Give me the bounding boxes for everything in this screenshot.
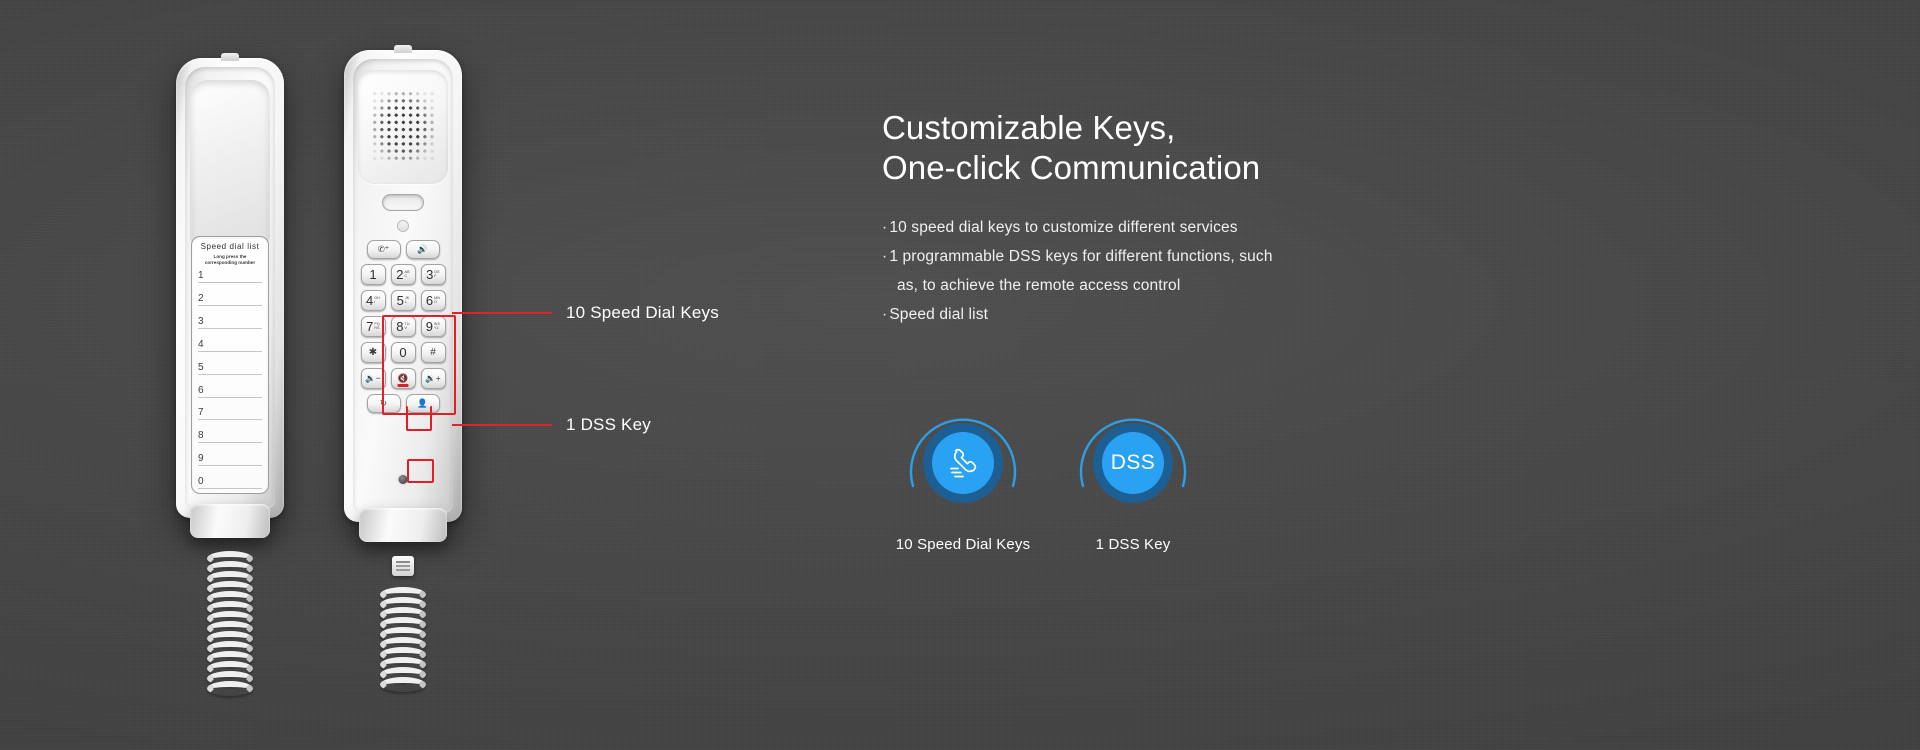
call-add-key[interactable]: ✆⁺: [367, 240, 401, 259]
dss-text-icon: DSS: [1111, 451, 1155, 475]
digit-key-number: 2: [396, 268, 403, 281]
keypad-function-row: ✆⁺🔊: [356, 240, 450, 259]
bullet-marker-icon: ·: [882, 306, 887, 323]
phone-handset-icon: [943, 443, 983, 483]
digit-key-letters: MNO: [434, 297, 440, 305]
speed-dial-row: 9: [198, 451, 262, 466]
speed-dial-row: 2: [198, 291, 262, 306]
call-add-key-glyph: ✆⁺: [378, 245, 390, 254]
speed-dial-row-number: 5: [198, 363, 204, 374]
speed-dial-row: 0: [198, 474, 262, 489]
speed-dial-row-number: 2: [198, 294, 204, 305]
coiled-cord-left: [207, 556, 253, 696]
callout-label: 10 Speed Dial Keys: [566, 303, 719, 323]
speed-dial-rows: 1234567890: [198, 268, 262, 489]
mute-indicator-icon: [398, 384, 409, 387]
digit-key-4[interactable]: 4GHI: [361, 290, 386, 311]
callout-label: 1 DSS Key: [566, 415, 651, 435]
digit-key-number: 1: [369, 268, 376, 281]
digit-key-letters: WXYZ: [434, 323, 440, 331]
digit-key-letters: ABC: [405, 271, 410, 279]
dss-key[interactable]: 👤: [406, 394, 440, 413]
star-key-glyph: ✱: [369, 348, 377, 358]
speed-dial-list-card: Speed dial list Long press the correspon…: [191, 236, 269, 494]
speed-dial-row-number: 6: [198, 386, 204, 397]
digit-key-number: 3: [426, 268, 433, 281]
microphone-icon: [399, 475, 408, 484]
digit-key-number: 8: [396, 320, 403, 333]
keypad-row-volume: 🔉−🔇🔉+: [356, 368, 450, 389]
speaker-key-glyph: 🔊: [417, 245, 428, 254]
handset-base-plate: [190, 504, 270, 538]
badge-dss-key: DSS 1 DSS Key: [1048, 404, 1218, 553]
feature-bullet-list: ·10 speed dial keys to customize differe…: [882, 213, 1522, 330]
speed-dial-row: 3: [198, 314, 262, 329]
zero-key-glyph: 0: [399, 346, 406, 359]
speed-dial-row-number: 4: [198, 340, 204, 351]
digit-key-number: 4: [366, 294, 373, 307]
star-key[interactable]: ✱: [361, 342, 386, 363]
feature-badges: 10 Speed Dial Keys DSS 1 DSS Key: [878, 404, 1218, 553]
digit-key-1[interactable]: 1: [361, 264, 386, 285]
badge-artwork: DSS: [1074, 404, 1192, 522]
feature-bullet: ·Speed dial list: [882, 300, 1522, 329]
badge-inner-circle: [932, 432, 994, 494]
volume-up-key[interactable]: 🔉+: [421, 368, 446, 389]
speed-dial-list-title: Speed dial list: [198, 243, 262, 252]
handset-cradle-recess: [190, 80, 270, 248]
digit-key-letters: TUV: [405, 323, 410, 331]
digit-key-number: 5: [397, 294, 404, 307]
handset-base-plate: [359, 508, 446, 542]
dss-key-glyph: 👤: [417, 399, 428, 408]
feature-bullet-text: 1 programmable DSS keys for different fu…: [889, 248, 1272, 265]
speed-dial-list-subtitle: Long press the corresponding number: [198, 254, 262, 265]
digit-key-6[interactable]: 6MNO: [421, 290, 446, 311]
speaker-grille-icon: [372, 91, 434, 163]
feature-bullet: as, to achieve the remote access control: [882, 271, 1522, 300]
badge-inner-circle: DSS: [1102, 432, 1164, 494]
cord-coil: [207, 681, 253, 696]
volume-down-key[interactable]: 🔉−: [361, 368, 386, 389]
copy-block: Customizable Keys, One-click Communicati…: [882, 108, 1522, 329]
feature-bullet: ·1 programmable DSS keys for different f…: [882, 242, 1522, 271]
speed-dial-row: 5: [198, 360, 262, 375]
digit-key-letters: GHI: [374, 297, 380, 305]
heading-line-1: Customizable Keys,: [882, 109, 1175, 146]
digit-key-8[interactable]: 8TUV: [391, 316, 416, 337]
keypad-row-symbols: ✱0#: [356, 342, 450, 363]
handset-top-nub: [221, 53, 239, 61]
zero-key[interactable]: 0: [391, 342, 416, 363]
keypad-row-bottom: ↻👤: [356, 394, 450, 413]
handset-front-view: ✆⁺🔊 12ABC3DEF 4GHI5JKL6MNO 7PQRS8TUV9WXY…: [344, 50, 462, 522]
subtitle-line-2: corresponding number: [205, 260, 255, 265]
callout-leader-line: [452, 424, 552, 426]
mute-key-glyph: 🔇: [398, 374, 409, 383]
digit-key-2[interactable]: 2ABC: [391, 264, 416, 285]
bullet-marker-icon: ·: [882, 248, 887, 265]
badge-label: 10 Speed Dial Keys: [896, 536, 1030, 553]
handset-left-view: Speed dial list Long press the correspon…: [176, 58, 284, 518]
subtitle-line-1: Long press the: [214, 254, 247, 259]
volume-down-key-glyph: 🔉−: [365, 374, 381, 383]
keypad: ✆⁺🔊 12ABC3DEF 4GHI5JKL6MNO 7PQRS8TUV9WXY…: [356, 240, 450, 418]
badge-artwork: [904, 404, 1022, 522]
hash-key-glyph: #: [430, 348, 436, 358]
plug-ridges: [396, 561, 410, 563]
slide-background: Speed dial list Long press the correspon…: [0, 0, 1920, 750]
digit-key-9[interactable]: 9WXYZ: [421, 316, 446, 337]
bullet-marker-icon: ·: [882, 219, 887, 236]
speaker-key[interactable]: 🔊: [406, 240, 440, 259]
callout-leader-line: [452, 312, 552, 314]
heading-line-2: One-click Communication: [882, 149, 1260, 186]
speed-dial-row: 7: [198, 405, 262, 420]
callout-speed-dial-keys: 10 Speed Dial Keys: [452, 303, 719, 323]
hook-switch-slot: [382, 194, 424, 211]
handset-top-nub: [394, 45, 412, 53]
coiled-cord-right: [380, 562, 426, 692]
digit-key-7[interactable]: 7PQRS: [361, 316, 386, 337]
mute-key[interactable]: 🔇: [391, 368, 416, 389]
feature-bullet-text: 10 speed dial keys to customize differen…: [889, 219, 1237, 236]
speed-dial-row-number: 1: [198, 271, 204, 282]
badge-speed-dial-keys: 10 Speed Dial Keys: [878, 404, 1048, 553]
digit-key-number: 6: [426, 294, 433, 307]
page-title: Customizable Keys, One-click Communicati…: [882, 108, 1522, 189]
speed-dial-row-number: 7: [198, 408, 204, 419]
badge-label: 1 DSS Key: [1096, 536, 1171, 553]
volume-up-key-glyph: 🔉+: [425, 374, 441, 383]
digit-key-number: 9: [426, 320, 433, 333]
digit-key-5[interactable]: 5JKL: [391, 290, 416, 311]
feature-bullet-text: Speed dial list: [889, 306, 988, 323]
keypad-row-456: 4GHI5JKL6MNO: [356, 290, 450, 311]
speed-dial-row-number: 8: [198, 431, 204, 442]
hash-key[interactable]: #: [421, 342, 446, 363]
digit-key-number: 7: [366, 320, 373, 333]
redial-key-glyph: ↻: [380, 399, 387, 408]
cord-coil: [380, 677, 426, 692]
speed-dial-row-number: 0: [198, 477, 204, 488]
keypad-row-789: 7PQRS8TUV9WXYZ: [356, 316, 450, 337]
redial-key[interactable]: ↻: [367, 394, 401, 413]
speed-dial-row-number: 9: [198, 454, 204, 465]
speed-dial-row: 1: [198, 268, 262, 283]
keypad-row-123: 12ABC3DEF: [356, 264, 450, 285]
speed-dial-row: 6: [198, 383, 262, 398]
digit-key-letters: JKL: [405, 297, 410, 305]
digit-key-3[interactable]: 3DEF: [421, 264, 446, 285]
speed-dial-row: 8: [198, 428, 262, 443]
digit-key-letters: DEF: [434, 271, 439, 279]
cord-plug: [392, 556, 414, 576]
callout-dss-key: 1 DSS Key: [452, 415, 651, 435]
status-led-icon: [397, 220, 409, 232]
digit-key-letters: PQRS: [374, 323, 380, 331]
feature-bullet-text: as, to achieve the remote access control: [897, 277, 1180, 294]
feature-bullet: ·10 speed dial keys to customize differe…: [882, 213, 1522, 242]
speed-dial-row-number: 3: [198, 317, 204, 328]
earpiece-speaker: [358, 70, 448, 184]
speed-dial-row: 4: [198, 337, 262, 352]
